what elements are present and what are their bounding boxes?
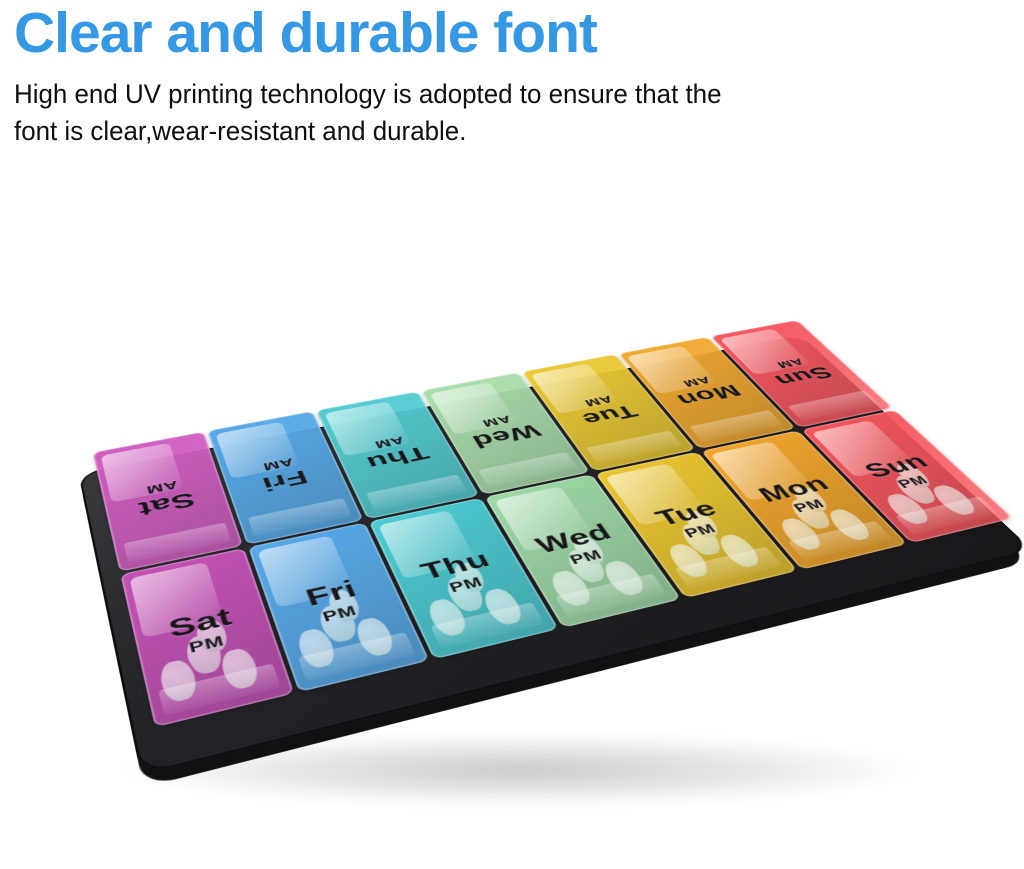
compartment-label: Fri AM xyxy=(254,454,310,493)
compartment-label: Sat AM xyxy=(132,476,197,519)
pill-organizer: Sat AM Fri AM Thu AM xyxy=(93,322,1013,730)
compartment-label: Tue AM xyxy=(569,391,641,428)
compartment-label: Wed PM xyxy=(531,521,625,572)
compartment-label: Mon AM xyxy=(663,371,745,408)
body-text-line-1: High end UV printing technology is adopt… xyxy=(14,76,782,112)
product-scene: Sat AM Fri AM Thu AM xyxy=(128,271,948,701)
compartment-label: Sat PM xyxy=(166,604,240,659)
compartment-label: Wed AM xyxy=(461,410,544,451)
compartment-label: Mon PM xyxy=(754,473,847,519)
compartment-label: Sun AM xyxy=(760,354,837,389)
product-photo: Sat AM Fri AM Thu AM xyxy=(0,175,1024,869)
compartment-label: Thu PM xyxy=(417,547,503,598)
page-title: Clear and durable font xyxy=(14,4,814,62)
compartment-label: Fri PM xyxy=(302,577,367,627)
compartment-label: Sun PM xyxy=(859,451,946,494)
body-text-line-2: font is clear,wear-resistant and durable… xyxy=(14,113,782,149)
compartment-label: Tue PM xyxy=(651,497,733,543)
compartment-label: Thu AM xyxy=(357,431,432,472)
marketing-copy-block: Clear and durable font High end UV print… xyxy=(14,4,814,149)
